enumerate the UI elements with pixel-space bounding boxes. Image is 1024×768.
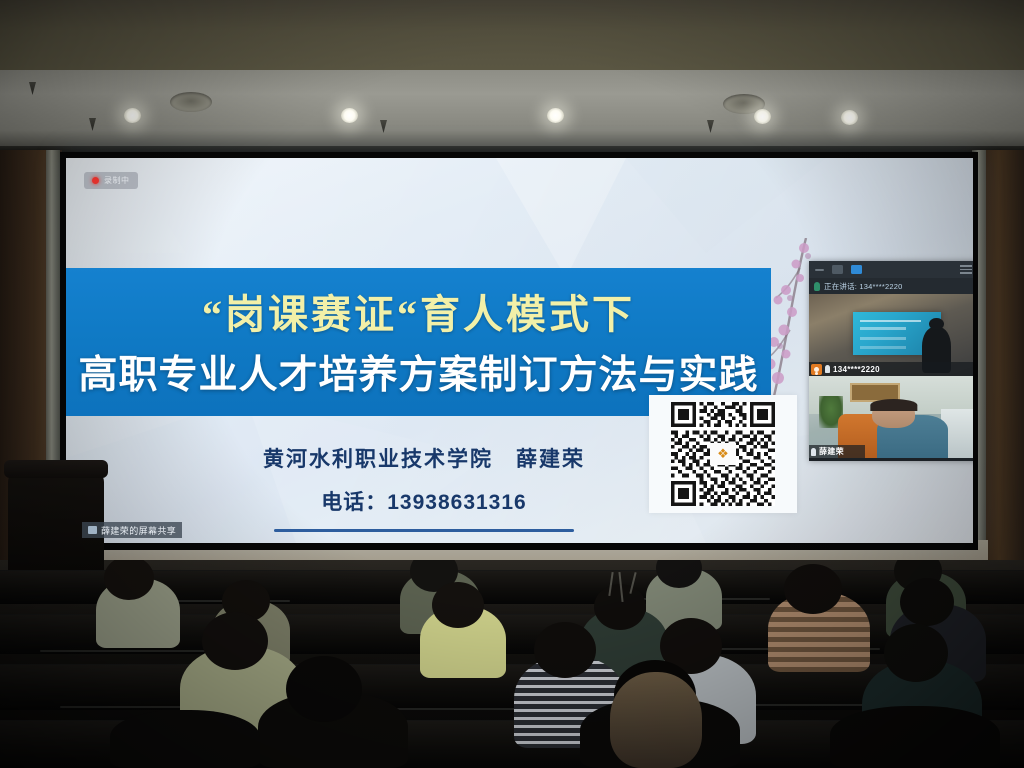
projection-screen-frame: 录制中 (60, 152, 978, 550)
audience-person-head (900, 578, 954, 626)
room-tile-namebar: 134****2220 (809, 362, 973, 376)
qr-center-logo-icon: ❖ (710, 443, 736, 465)
slide-phone: 电话：13938631316 (184, 486, 664, 516)
room-tile-participant-label: 134****2220 (833, 365, 880, 374)
presenter-tile-namebar: 薛建荣 (809, 445, 865, 458)
downlight-icon (754, 109, 771, 124)
avatar (811, 364, 822, 375)
screen-share-label: 薛建荣的屏幕共享 (82, 522, 182, 538)
audience-person-head (884, 624, 948, 682)
presenter-camera-tile[interactable]: 薛建荣 (809, 376, 973, 458)
room-camera-tile[interactable]: 134****2220 (809, 294, 973, 376)
recessed-can-light (170, 92, 212, 112)
participants-icon[interactable] (851, 265, 862, 274)
audience-person-head (784, 564, 842, 614)
hamburger-menu-icon[interactable] (960, 265, 972, 274)
audience-area (0, 560, 1024, 768)
qr-code-card: ❖ (649, 395, 797, 513)
speaking-banner-text: 正在讲话: 134****2220 (824, 281, 902, 292)
mic-icon (825, 365, 830, 373)
ceiling-upper-surface (0, 0, 1024, 78)
audience-person-head (202, 612, 268, 670)
podium (8, 470, 104, 570)
screen-share-icon (88, 526, 97, 534)
mic-icon (811, 448, 816, 456)
audience-person-head (534, 622, 596, 678)
audience-person (830, 706, 1000, 768)
slide-title-line1: “岗课赛证“育人模式下 (66, 282, 771, 340)
recording-badge: 录制中 (84, 172, 138, 189)
downlight-icon (547, 108, 564, 123)
downlight-icon (124, 108, 141, 123)
audience-person-head (432, 582, 484, 628)
video-conference-panel[interactable]: 正在讲话: 134****2220 134****2220 (809, 261, 973, 461)
recording-dot-icon (92, 177, 99, 184)
presenter-tile-participant-label: 薛建荣 (819, 446, 844, 457)
minimize-icon[interactable] (815, 269, 824, 271)
speaking-banner: 正在讲话: 134****2220 (809, 278, 973, 294)
window-icon[interactable] (832, 265, 843, 274)
audience-person-head (286, 656, 362, 722)
podium-top (4, 460, 108, 478)
cam-person-hair (870, 399, 917, 411)
ceiling-soffit (0, 70, 1024, 150)
conference-room-photo: 录制中 (0, 0, 1024, 768)
audience-person (110, 710, 260, 768)
qr-code: ❖ (671, 402, 775, 506)
video-panel-toolbar[interactable] (809, 261, 973, 278)
recording-label: 录制中 (104, 175, 130, 186)
downlight-icon (341, 108, 358, 123)
slide-organization: 黄河水利职业技术学院 薛建荣 (184, 443, 664, 473)
screen-share-text: 薛建荣的屏幕共享 (101, 524, 176, 537)
slide-divider (274, 529, 574, 532)
slide-info-block: 黄河水利职业技术学院 薛建荣 电话：13938631316 河南·开封 2022… (184, 443, 664, 543)
downlight-icon (841, 110, 858, 125)
slide-title-band: “岗课赛证“育人模式下 高职专业人才培养方案制订方法与实践 (66, 268, 771, 416)
slide-title-line2: 高职专业人才培养方案制订方法与实践 (66, 344, 771, 400)
mic-icon (814, 282, 820, 291)
wall-panel-right (982, 150, 1024, 570)
audience-person-hair (610, 672, 702, 768)
projection-screen: 录制中 (66, 158, 973, 543)
